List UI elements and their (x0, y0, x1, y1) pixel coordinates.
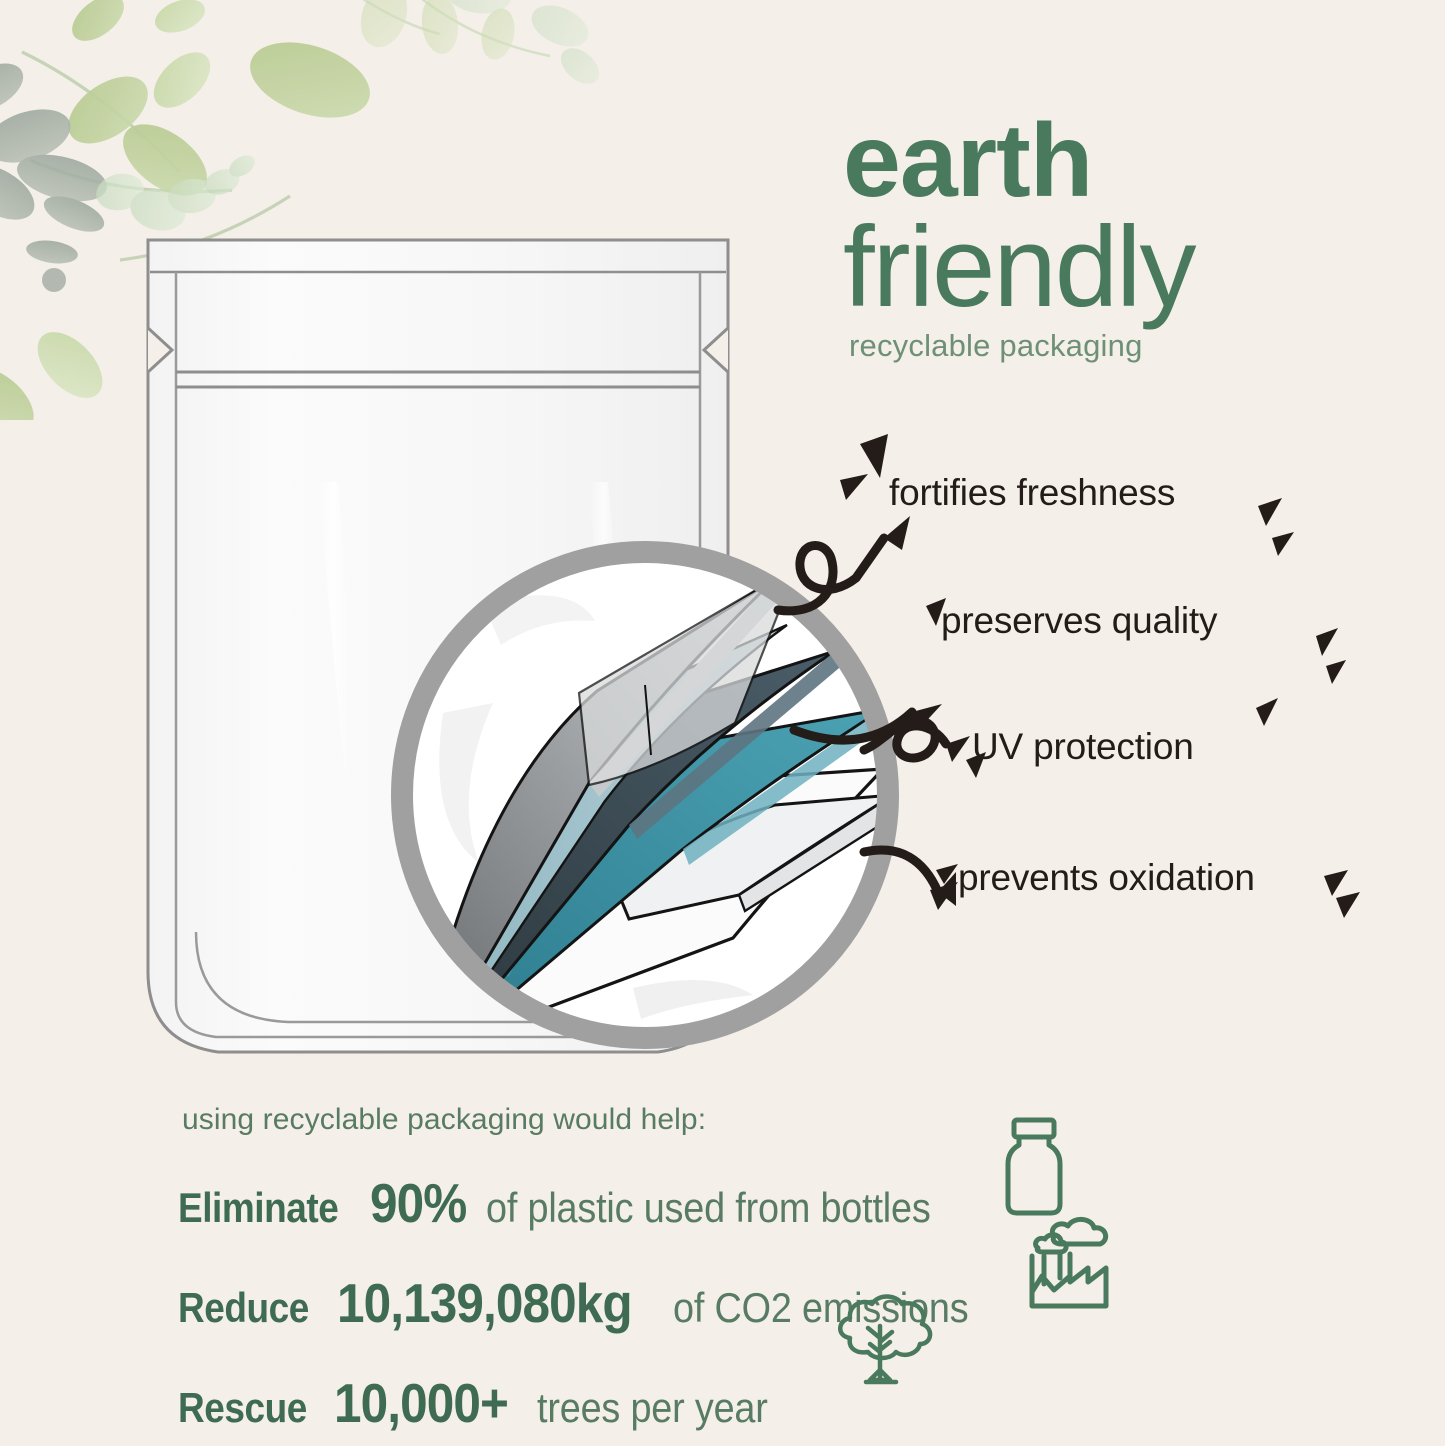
sparkle-ticks-icon (1318, 870, 1378, 920)
headline-block: earth friendly recyclable packaging (843, 112, 1403, 364)
feature-label-fortifies-freshness: fortifies freshness (889, 472, 1175, 514)
stat-verb: Eliminate (178, 1184, 338, 1232)
infographic-canvas: earth friendly recyclable packaging fort… (0, 0, 1445, 1446)
bottle-icon (992, 1114, 1076, 1222)
stat-verb: Reduce (178, 1284, 309, 1332)
tree-icon (826, 1292, 938, 1396)
stat-number: 10,139,080kg (337, 1271, 632, 1335)
stat-tail: of plastic used from bottles (486, 1184, 931, 1232)
headline-subtitle: recyclable packaging (849, 328, 1403, 364)
stat-number: 90% (370, 1171, 466, 1235)
headline-earth: earth (843, 112, 1403, 212)
feature-label-uv-protection: UV protection (972, 726, 1194, 768)
factory-icon (1018, 1214, 1118, 1310)
stat-row-rescue: Rescue 10,000+ trees per year (178, 1371, 1178, 1435)
feature-label-prevents-oxidation: prevents oxidation (958, 857, 1255, 899)
stat-number: 10,000+ (334, 1371, 508, 1435)
stat-verb: Rescue (178, 1384, 307, 1432)
headline-friendly: friendly (843, 214, 1403, 322)
stat-tail: trees per year (537, 1384, 768, 1432)
feature-label-preserves-quality: preserves quality (941, 600, 1217, 642)
magnified-film-layers (383, 533, 908, 1058)
